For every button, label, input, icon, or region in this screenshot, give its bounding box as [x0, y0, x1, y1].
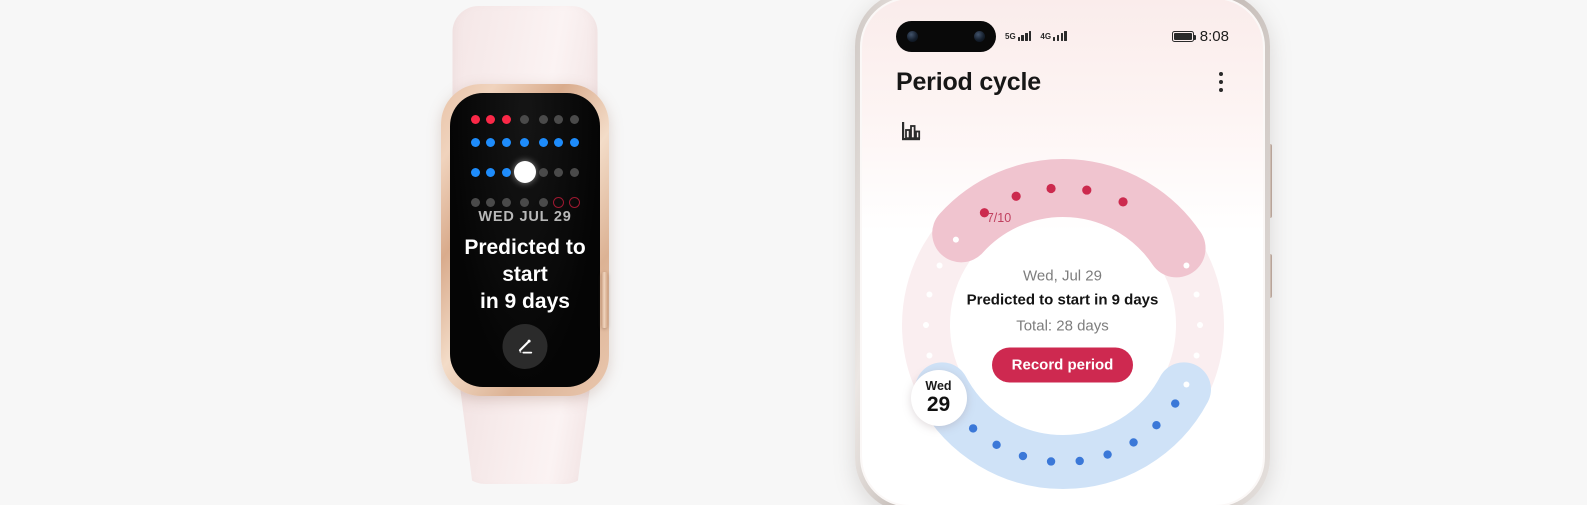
- watch-message-line1: Predicted to start: [464, 236, 585, 286]
- watch-dot-gray: [486, 198, 495, 207]
- watch-dot-red: [486, 115, 495, 124]
- day-marker-number: 29: [927, 394, 950, 416]
- watch-dot-gray: [554, 168, 563, 177]
- ring-day-dot: [923, 322, 929, 328]
- today-day-marker[interactable]: Wed 29: [911, 370, 967, 426]
- watch-side-button[interactable]: [601, 272, 608, 328]
- watch-dot-blue: [486, 168, 495, 177]
- watch-dot-gray: [539, 115, 548, 124]
- network-label-4g: 4G: [1040, 32, 1051, 41]
- watch-dot-blue: [502, 168, 511, 177]
- watch-dot-red: [502, 115, 511, 124]
- watch-dot-blue: [471, 168, 480, 177]
- signal-indicator-4g: 4G: [1040, 31, 1066, 41]
- camera-punch-hole: [896, 21, 996, 52]
- watch-dot-ring: [569, 197, 580, 208]
- app-header: Period cycle: [862, 57, 1263, 107]
- watch-cycle-dot-grid: [450, 115, 600, 208]
- watch-dot-blue: [520, 138, 529, 147]
- fertile-day-dot: [1129, 438, 1137, 446]
- ring-day-dot: [1193, 352, 1199, 358]
- pencil-icon: [513, 335, 537, 359]
- watch-dot-blue: [554, 138, 563, 147]
- fertile-day-dot: [1018, 452, 1026, 460]
- ring-day-dot: [936, 263, 942, 269]
- period-day-dot: [1011, 192, 1020, 201]
- ring-day-dot: [1183, 381, 1189, 387]
- fertile-day-dot: [992, 441, 1000, 449]
- fertile-day-dot: [1075, 457, 1083, 465]
- watch-dot-gray: [570, 168, 579, 177]
- fertile-day-dot: [968, 424, 976, 432]
- smartphone-device: 5G 4G 8:08 Perio: [855, 0, 1270, 505]
- watch-dot-blue: [539, 138, 548, 147]
- watch-edit-button[interactable]: [503, 324, 548, 369]
- period-day-dot: [1046, 184, 1055, 193]
- cycle-date: Wed, Jul 29: [950, 268, 1176, 285]
- record-period-button[interactable]: Record period: [992, 348, 1134, 383]
- ring-center-content: Wed, Jul 29 Predicted to start in 9 days…: [950, 268, 1176, 383]
- bar-chart-icon[interactable]: [898, 119, 924, 150]
- network-label-5g: 5G: [1005, 32, 1016, 41]
- status-bar: 5G 4G 8:08: [862, 19, 1263, 53]
- watch-dot-blue: [502, 138, 511, 147]
- watch-case: WED JUL 29 Predicted to start in 9 days: [441, 84, 609, 396]
- watch-dot-gray: [539, 198, 548, 207]
- watch-dot-red: [471, 115, 480, 124]
- watch-dot-blue: [486, 138, 495, 147]
- cycle-total: Total: 28 days: [950, 318, 1176, 335]
- ring-day-dot: [1193, 292, 1199, 298]
- ring-day-dot: [926, 352, 932, 358]
- period-fraction-label: 7/10: [987, 211, 1011, 225]
- watch-dot-blue: [471, 138, 480, 147]
- battery-full-icon: [1172, 31, 1194, 42]
- watch-screen[interactable]: WED JUL 29 Predicted to start in 9 days: [450, 93, 600, 387]
- ring-day-dot: [1183, 263, 1189, 269]
- watch-dot-gray: [471, 198, 480, 207]
- watch-dot-gray: [520, 115, 529, 124]
- watch-dot-gray: [570, 115, 579, 124]
- watch-prediction-message: Predicted to start in 9 days: [450, 235, 600, 316]
- phone-screen: 5G 4G 8:08 Perio: [862, 0, 1263, 505]
- watch-message-line2: in 9 days: [480, 290, 570, 313]
- watch-date-label: WED JUL 29: [450, 209, 600, 225]
- watch-dot-gray: [539, 168, 548, 177]
- phone-frame: 5G 4G 8:08 Perio: [855, 0, 1270, 505]
- watch-dot-today: [514, 161, 536, 183]
- period-day-dot: [1082, 185, 1091, 194]
- watch-dot-ring: [553, 197, 564, 208]
- signal-bars-icon: [1018, 31, 1032, 41]
- ring-segment-fertile: [942, 389, 1184, 462]
- ring-day-dot: [1197, 322, 1203, 328]
- phone-bezel: 5G 4G 8:08 Perio: [860, 0, 1265, 505]
- watch-dot-gray: [520, 198, 529, 207]
- period-cycle-ring-chart: Wed, Jul 29 Predicted to start in 9 days…: [893, 155, 1233, 495]
- status-bar-right: 8:08: [1172, 28, 1229, 45]
- fertile-day-dot: [1046, 457, 1054, 465]
- smartwatch-device: WED JUL 29 Predicted to start in 9 days: [405, 0, 645, 505]
- fertile-day-dot: [1171, 399, 1179, 407]
- fertile-day-dot: [1152, 421, 1160, 429]
- status-bar-clock: 8:08: [1200, 28, 1229, 45]
- watch-dot-blue: [570, 138, 579, 147]
- signal-indicator-5g: 5G: [1005, 31, 1031, 41]
- day-marker-dow: Wed: [925, 380, 951, 394]
- ring-day-dot: [952, 237, 958, 243]
- camera-lens-left-icon: [907, 31, 918, 42]
- page-title: Period cycle: [896, 68, 1041, 97]
- watch-band-bottom: [456, 388, 594, 484]
- fertile-day-dot: [1103, 450, 1111, 458]
- kebab-menu-icon[interactable]: [1213, 66, 1229, 98]
- camera-lens-right-icon: [974, 31, 985, 42]
- screenshot-stage: WED JUL 29 Predicted to start in 9 days: [0, 0, 1587, 505]
- period-day-dot: [1118, 197, 1127, 206]
- signal-bars-icon: [1053, 31, 1067, 41]
- ring-day-dot: [926, 292, 932, 298]
- watch-dot-gray: [502, 198, 511, 207]
- cycle-prediction: Predicted to start in 9 days: [950, 292, 1176, 309]
- watch-dot-gray: [554, 115, 563, 124]
